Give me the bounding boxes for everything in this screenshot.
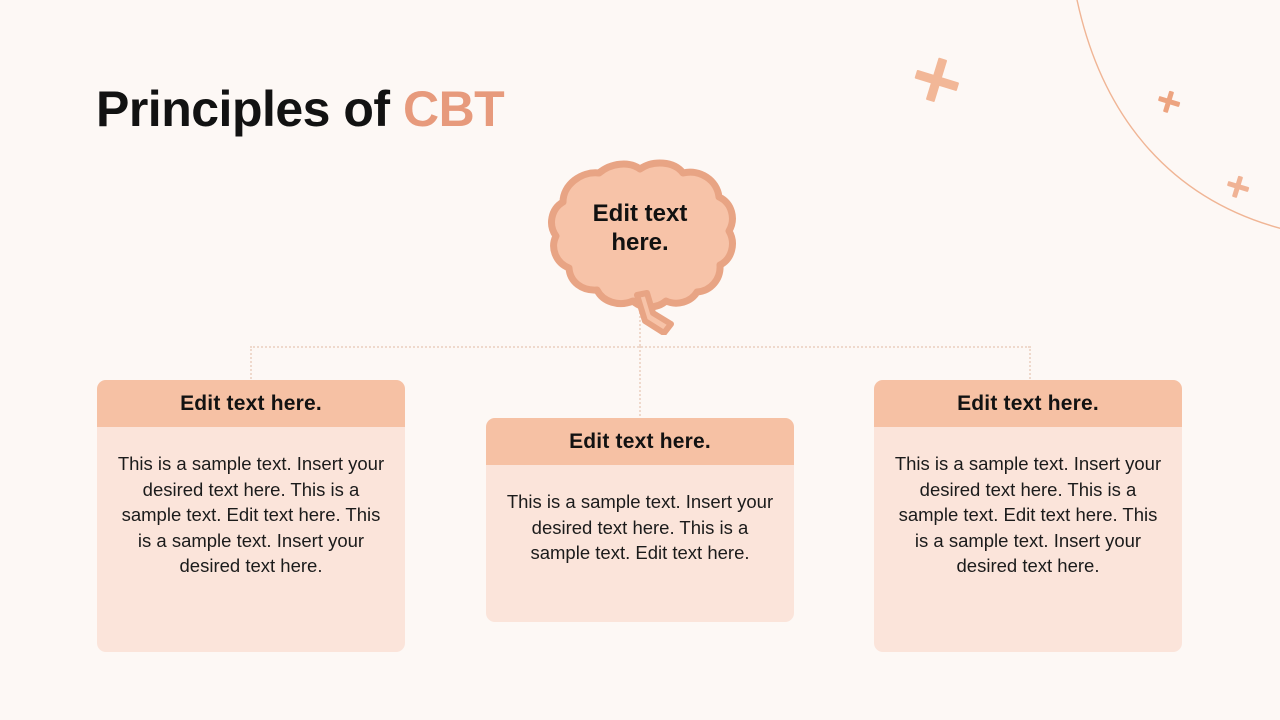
page-title: Principles of CBT <box>96 80 504 138</box>
brain-node[interactable]: Edit text here. <box>533 155 747 335</box>
cross-bar-horizontal <box>1227 181 1250 192</box>
principle-card-3[interactable]: Edit text here. This is a sample text. I… <box>874 380 1182 652</box>
cross-bar-horizontal <box>914 70 959 91</box>
page-title-main: Principles of <box>96 81 403 137</box>
brain-label: Edit text here. <box>567 199 713 258</box>
card-body-3: This is a sample text. Insert your desir… <box>874 427 1182 579</box>
card-body-1: This is a sample text. Insert your desir… <box>97 427 405 579</box>
card-body-2: This is a sample text. Insert your desir… <box>486 465 794 566</box>
principle-card-2[interactable]: Edit text here. This is a sample text. I… <box>486 418 794 622</box>
page-title-accent: CBT <box>403 81 504 137</box>
card-header-1: Edit text here. <box>97 380 405 427</box>
principle-card-1[interactable]: Edit text here. This is a sample text. I… <box>97 380 405 652</box>
connector-drop-right <box>1029 346 1031 382</box>
cross-bar-vertical <box>926 57 947 102</box>
arc-curve <box>1075 0 1280 232</box>
plus-cross-icon-large <box>910 53 965 108</box>
cross-bar-horizontal <box>1158 96 1181 107</box>
connector-drop-center <box>639 346 641 420</box>
cross-bar-vertical <box>1163 91 1174 114</box>
card-header-2: Edit text here. <box>486 418 794 465</box>
connector-drop-left <box>250 346 252 382</box>
slide-canvas: Principles of CBT Edit text here. Edit t… <box>0 0 1280 720</box>
cross-bar-vertical <box>1232 176 1243 199</box>
plus-cross-icon-small-top <box>1155 88 1182 115</box>
card-header-3: Edit text here. <box>874 380 1182 427</box>
plus-cross-icon-small-right <box>1224 173 1251 200</box>
